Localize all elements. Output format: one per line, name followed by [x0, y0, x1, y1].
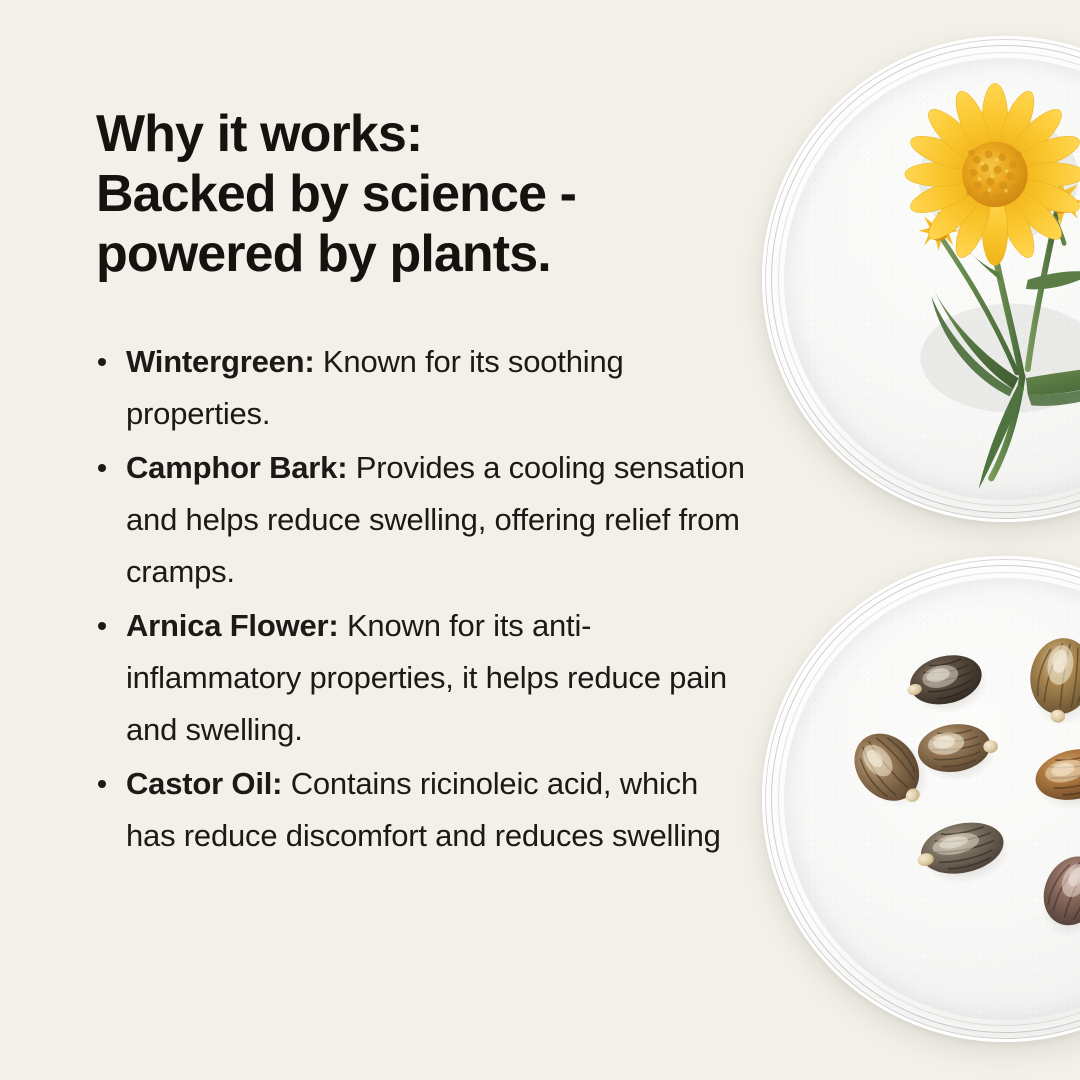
- dish-interior: [784, 578, 1080, 1020]
- ingredient-name: Arnica Flower:: [126, 608, 339, 643]
- text-column: Why it works: Backed by science - powere…: [96, 104, 746, 864]
- bullet-dot-icon: [98, 464, 106, 472]
- castor-seeds-image: [784, 578, 1080, 1020]
- bullet-dot-icon: [98, 622, 106, 630]
- castor-seed: [912, 814, 1016, 892]
- list-item: Castor Oil: Contains ricinoleic acid, wh…: [96, 758, 746, 862]
- seed-row-2: [841, 717, 1080, 822]
- castor-seed: [1023, 634, 1080, 731]
- list-item: Wintergreen: Known for its soothing prop…: [96, 336, 746, 440]
- list-item: Arnica Flower: Known for its anti-inflam…: [96, 600, 746, 756]
- petri-dish-castor: [762, 556, 1080, 1042]
- ingredient-list: Wintergreen: Known for its soothing prop…: [96, 336, 746, 862]
- seed-row-3: [912, 814, 1080, 947]
- bullet-dot-icon: [98, 780, 106, 788]
- castor-seed: [901, 647, 994, 722]
- page-title: Why it works: Backed by science - powere…: [96, 104, 746, 284]
- dish-interior: [784, 58, 1080, 500]
- ingredient-name: Wintergreen:: [126, 344, 315, 379]
- castor-seed: [1031, 740, 1080, 817]
- arnica-flower-head: [905, 83, 1080, 265]
- ingredient-name: Castor Oil:: [126, 766, 282, 801]
- castor-seed: [1029, 840, 1080, 947]
- product-benefits-graphic: Why it works: Backed by science - powere…: [0, 0, 1080, 1080]
- ingredient-name: Camphor Bark:: [126, 450, 347, 485]
- petri-dish-arnica: [762, 36, 1080, 522]
- seed-row-1: [901, 634, 1080, 731]
- list-item: Camphor Bark: Provides a cooling sensati…: [96, 442, 746, 598]
- arnica-flower-image: [784, 58, 1080, 500]
- bullet-dot-icon: [98, 358, 106, 366]
